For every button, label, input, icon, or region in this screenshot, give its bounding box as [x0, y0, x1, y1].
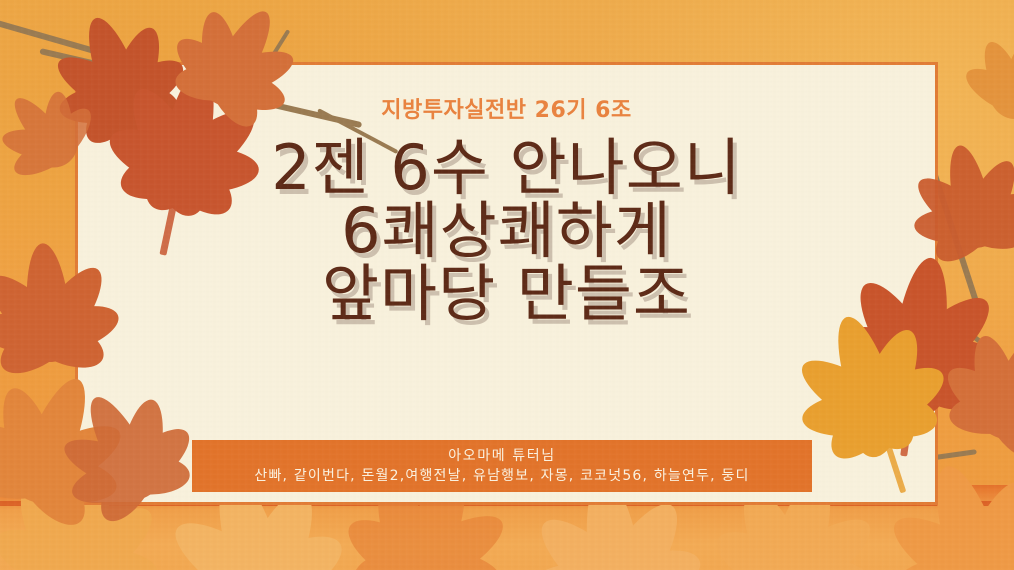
member-list: 산빠, 같이번다, 돈월2,여행전날, 유남행보, 자몽, 코코넛56, 하늘연…: [254, 466, 749, 486]
tutor-name: 아오마메 튜터님: [448, 446, 555, 466]
credits-banner: 아오마메 튜터님 산빠, 같이번다, 돈월2,여행전날, 유남행보, 자몽, 코…: [192, 440, 812, 492]
autumn-title-slide: 지방투자실전반 26기 6조 2젠 6수 안나오니 6쾌상쾌하게 앞마당 만들조…: [0, 0, 1014, 570]
